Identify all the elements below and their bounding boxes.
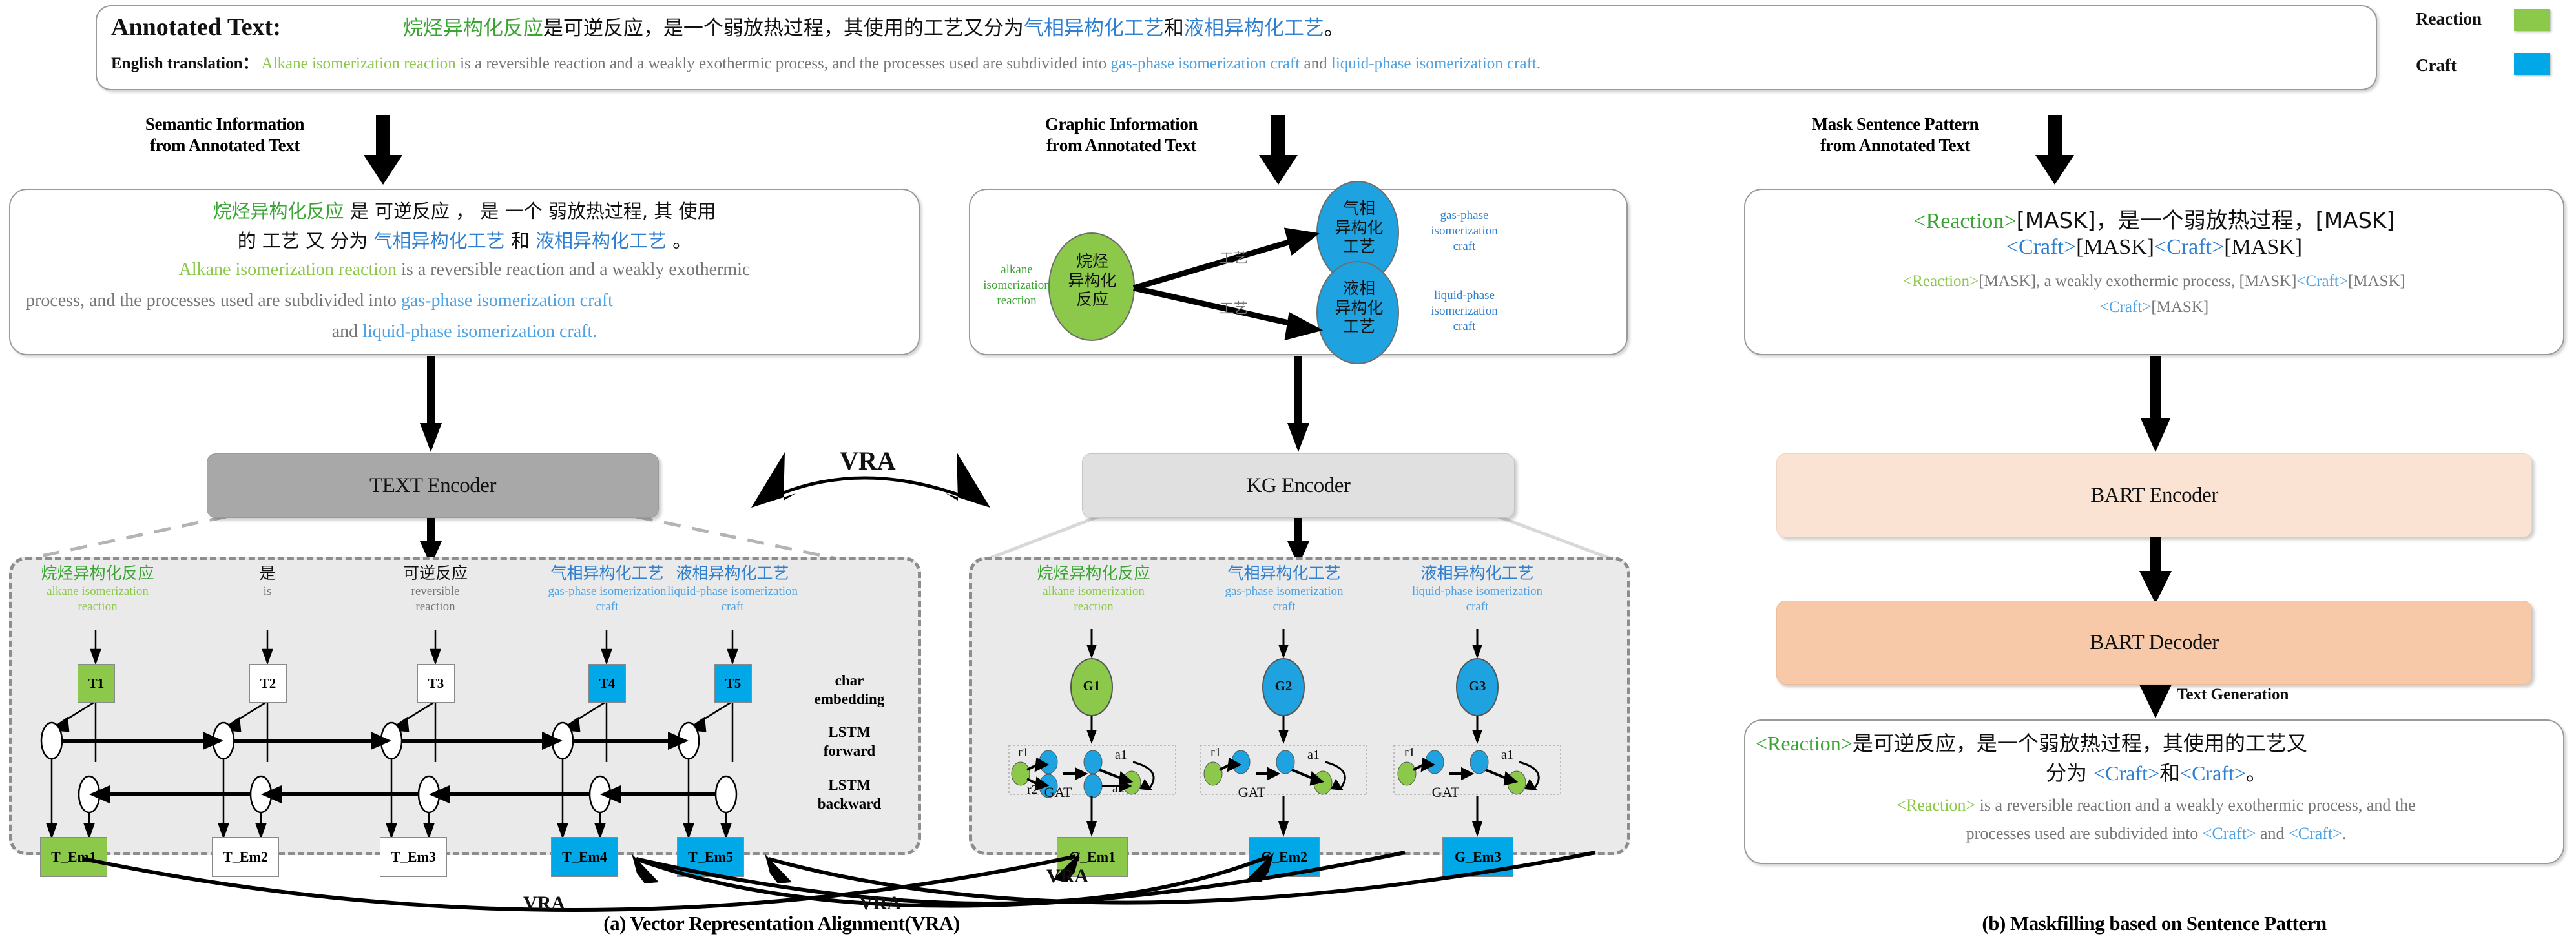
semantic-cn-and: 和: [505, 230, 535, 252]
output-cn-mid1: 是可逆反应，是一个弱放热过程，其使用的工艺又: [1853, 731, 2307, 756]
annotated-cn-reaction: 烷烃异构化反应: [403, 17, 543, 40]
text-encoder-detail-content: 烷烃异构化反应 alkane isomerization reaction 是 …: [9, 557, 921, 855]
graphic-info-header-line1: Graphic Information: [982, 114, 1261, 135]
vra-link-label-3: VRA: [1046, 865, 1088, 887]
mask-cn-reaction-tag: <Reaction>: [1913, 209, 2016, 233]
gat-r1-label-1: r1: [1018, 745, 1029, 760]
vra-arrowhead-1: [632, 854, 659, 883]
mask-cn-line1: <Reaction>[MASK]，是一个弱放热过程，[MASK]: [1749, 203, 2559, 234]
semantic-information-box: 烷烃异构化反应 是 可逆反应 ， 是 一个 弱放热过程, 其 使用 的 工艺 又…: [9, 189, 920, 355]
semantic-en-line1: Alkane isomerization reaction is a rever…: [17, 260, 912, 280]
mask-cn-mask2: [MASK]: [2224, 235, 2302, 259]
annotated-en-body: is a reversible reaction and a weakly ex…: [456, 55, 1111, 72]
char-embedding-label: char embedding: [792, 672, 907, 709]
text-token-cn-0: 烷烃异构化反应: [23, 561, 172, 584]
gat-a2-label-1: a2: [1112, 781, 1125, 796]
output-cn-line2: 分为 <Craft>和<Craft>。: [1756, 757, 2557, 787]
text-token-cn-4: 液相异构化工艺: [657, 561, 808, 584]
kg-node-liquid-craft-label: 液相异构化工艺: [1325, 279, 1393, 336]
text-token-en-2a: reversible: [373, 584, 498, 599]
kg-node-en-2b: craft: [1395, 599, 1559, 615]
text-generation-label: Text Generation: [2177, 686, 2289, 704]
annotated-text-banner: Annotated Text: 烷烃异构化反应是可逆反应，是一个弱放热过程，其使…: [96, 5, 2377, 90]
semantic-en-reaction: Alkane isomerization reaction: [179, 260, 397, 280]
kg-reaction-en-1: alkane: [977, 262, 1057, 278]
embedding-box-G_Em2[interactable]: G_Em2: [1249, 837, 1320, 877]
embedding-box-G_Em3[interactable]: G_Em3: [1442, 837, 1513, 877]
annotated-text-title: Annotated Text:: [111, 14, 281, 41]
output-en-craft-tag2: <Craft>: [2289, 824, 2342, 843]
text-token-col-0: 烷烃异构化反应 alkane isomerization reaction: [23, 561, 172, 615]
semantic-en-line3: and liquid-phase isomerization craft.: [17, 322, 912, 342]
output-en-mid1: is a reversible reaction and a weakly ex…: [1975, 796, 2416, 814]
kg-liquid-en-3: craft: [1404, 319, 1524, 335]
text-encoder-funnel: [26, 517, 840, 559]
legend-reaction-swatch: [2514, 9, 2550, 31]
kg-liquid-en-1: liquid-phase: [1404, 288, 1524, 304]
semantic-en-rest1: is a reversible reaction and a weakly ex…: [397, 260, 750, 280]
mask-cn-craft-tag1: <Craft>: [2006, 235, 2076, 259]
semantic-en-line2: process, and the processes used are subd…: [26, 291, 921, 311]
embedding-box-T_Em1[interactable]: T_Em1: [40, 837, 107, 877]
mask-cn-craft-tag2: <Craft>: [2154, 235, 2224, 259]
kg-edge-label-top: 工艺: [1220, 247, 1248, 267]
annotated-cn-craft2: 液相异构化工艺: [1184, 17, 1324, 40]
vra-top-label: VRA: [840, 446, 896, 476]
graphic-header-down-arrow: [1259, 115, 1298, 185]
text-token-col-4: 液相异构化工艺 liquid-phase isomerization craft: [657, 561, 808, 615]
legend-craft-swatch: [2514, 53, 2550, 75]
caption-a: (a) Vector Representation Alignment(VRA): [297, 912, 1266, 935]
graphic-information-box: 烷烃异构化反应 气相异构化工艺 液相异构化工艺 alkane isomeriza…: [969, 189, 1628, 355]
g2-node-label: G2: [1267, 678, 1300, 694]
text-token-en-4a: liquid-phase isomerization: [657, 584, 808, 599]
vra-double-arrow: [759, 478, 982, 504]
gat-a1-label-1: a1: [1115, 748, 1127, 763]
lstm-label-f: LSTM: [792, 723, 907, 742]
kg-gas-en-3: craft: [1404, 239, 1524, 254]
kg-node-reaction-label: 烷烃异构化反应: [1057, 252, 1128, 309]
embedding-box-T_Em2[interactable]: T_Em2: [212, 837, 279, 877]
kg-node-en-1b: craft: [1207, 599, 1362, 615]
gat-a1-label-2: a1: [1307, 748, 1320, 763]
text-token-cn-1: 是: [213, 561, 322, 584]
text-token-en-0b: reaction: [23, 599, 172, 615]
char-label: char: [792, 672, 907, 690]
legend-reaction-label: Reaction: [2416, 9, 2482, 29]
mask-pattern-header: Mask Sentence Pattern from Annotated Tex…: [1756, 114, 2035, 156]
graphic-info-header: Graphic Information from Annotated Text: [982, 114, 1261, 156]
semantic-info-header: Semantic Information from Annotated Text: [85, 114, 364, 156]
kg-node-en-1a: gas-phase isomerization: [1207, 584, 1362, 599]
generated-output-box: <Reaction>是可逆反应，是一个弱放热过程，其使用的工艺又 分为 <Cra…: [1744, 719, 2564, 864]
output-en-period: .: [2342, 824, 2347, 843]
mask-en-line1-mid: [MASK], a weakly exothermic process, [MA…: [1979, 273, 2296, 290]
token-box-T5[interactable]: T5: [714, 664, 752, 703]
annotated-text-line-cn: Annotated Text: 烷烃异构化反应是可逆反应，是一个弱放热过程，其使…: [111, 12, 2359, 45]
kg-reaction-en-3: reaction: [977, 293, 1057, 309]
semantic-en-craft2: liquid-phase isomerization craft.: [362, 322, 597, 342]
text-token-en-1a: is: [213, 584, 322, 599]
graphic-info-header-line2: from Annotated Text: [982, 135, 1261, 156]
annotated-en-period: .: [1537, 55, 1541, 72]
kg-node-col-2: 液相异构化工艺 liquid-phase isomerization craft: [1395, 561, 1559, 615]
output-en-craft-tag1: <Craft>: [2203, 824, 2256, 843]
mask-pattern-header-line1: Mask Sentence Pattern: [1756, 114, 2035, 135]
mask-en-craft-tag1: <Craft>: [2296, 273, 2348, 290]
output-en-line1: <Reaction> is a reversible reaction and …: [1756, 796, 2557, 815]
vra-arrowhead-2: [765, 854, 792, 883]
mask-cn-line1-rest: [MASK]，是一个弱放热过程，[MASK]: [2017, 208, 2395, 234]
output-en-and: and: [2256, 824, 2289, 843]
kg-node-gas-craft-label: 气相异构化工艺: [1325, 199, 1393, 256]
kg-node-col-1: 气相异构化工艺 gas-phase isomerization craft: [1207, 561, 1362, 615]
output-en-line2: processes used are subdivided into <Craf…: [1756, 824, 2557, 843]
output-cn-craft-tag2: <Craft>: [2180, 761, 2246, 785]
kg-node-en-0a: alkane isomerization: [1014, 584, 1173, 599]
output-cn-reaction-tag: <Reaction>: [1756, 732, 1853, 755]
backward-label: backward: [792, 795, 907, 814]
mask-pattern-header-line2: from Annotated Text: [1756, 135, 2035, 156]
gat-label-2: GAT: [1227, 784, 1276, 801]
token-box-T4[interactable]: T4: [588, 664, 626, 703]
vra-arrowhead-right: [946, 452, 990, 508]
caption-b: (b) Maskfilling based on Sentence Patter…: [1744, 912, 2564, 935]
text-token-col-2: 可逆反应 reversible reaction: [373, 561, 498, 615]
output-cn-line1: <Reaction>是可逆反应，是一个弱放热过程，其使用的工艺又: [1756, 727, 2557, 757]
embedding-box-T_Em4[interactable]: T_Em4: [551, 837, 618, 877]
english-translation-label: English translation：: [111, 55, 259, 72]
text-token-cn-2: 可逆反应: [373, 561, 498, 584]
mask-to-bart-encoder-arrow: [2141, 356, 2170, 452]
text-token-en-4b: craft: [657, 599, 808, 615]
kg-to-kg-encoder-arrow: [1287, 356, 1309, 452]
lstm-label-b: LSTM: [792, 776, 907, 795]
annotated-cn-body: 是可逆反应，是一个弱放热过程，其使用的工艺又分为: [543, 17, 1024, 40]
mask-en-line1: <Reaction>[MASK], a weakly exothermic pr…: [1749, 273, 2559, 291]
g3-node-label: G3: [1461, 678, 1493, 694]
kg-gas-en-2: isomerization: [1404, 223, 1524, 239]
vra-arrowhead-left: [751, 452, 796, 508]
bart-encoder-block[interactable]: BART Encoder: [1776, 453, 2532, 537]
kg-edge-label-bottom: 工艺: [1220, 297, 1248, 318]
annotated-en-reaction: Alkane isomerization reaction: [262, 55, 456, 72]
lstm-wires: [41, 630, 737, 837]
output-cn-craft-tag1: <Craft>: [2093, 761, 2159, 785]
mask-cn-mask1: [MASK]: [2076, 235, 2154, 259]
kg-node-cn-1: 气相异构化工艺: [1207, 561, 1362, 584]
bart-decoder-block[interactable]: BART Decoder: [1776, 601, 2532, 685]
semantic-cn-period: 。: [667, 230, 691, 252]
legend: Reaction Craft: [2416, 5, 2571, 83]
kg-liquid-craft-en-label: liquid-phase isomerization craft: [1404, 288, 1524, 334]
kg-encoder-funnel: [987, 517, 1612, 559]
kg-reaction-en-label: alkane isomerization reaction: [977, 262, 1057, 308]
vra-link-label-2: VRA: [859, 893, 901, 914]
semantic-cn-line2: 的 工艺 又 分为 气相异构化工艺 和 液相异构化工艺 。: [17, 226, 912, 253]
text-encoder-block[interactable]: TEXT Encoder: [207, 453, 659, 518]
kg-node-en-2a: liquid-phase isomerization: [1395, 584, 1559, 599]
text-token-en-0a: alkane isomerization: [23, 584, 172, 599]
gat-label-1: GAT: [1034, 784, 1083, 801]
token-box-T3[interactable]: T3: [417, 664, 455, 703]
lstm-forward-label: LSTM forward: [792, 723, 907, 761]
mask-en-reaction-tag: <Reaction>: [1903, 273, 1979, 290]
annotated-cn-and: 和: [1164, 17, 1184, 40]
gat-a1-label-3: a1: [1501, 748, 1513, 763]
kg-liquid-en-2: isomerization: [1404, 304, 1524, 319]
semantic-en-rest2: process, and the processes used are subd…: [26, 291, 401, 311]
annotated-cn-craft1: 气相异构化工艺: [1024, 17, 1164, 40]
semantic-en-craft1: gas-phase isomerization craft: [401, 291, 613, 311]
semantic-info-header-line1: Semantic Information: [85, 114, 364, 135]
kg-node-col-0: 烷烃异构化反应 alkane isomerization reaction: [1014, 561, 1173, 615]
embedding-box-T_Em5[interactable]: T_Em5: [677, 837, 744, 877]
gat-r1-label-2: r1: [1210, 745, 1221, 760]
token-box-T2[interactable]: T2: [249, 664, 287, 703]
token-box-T1[interactable]: T1: [78, 664, 115, 703]
kg-node-cn-2: 液相异构化工艺: [1395, 561, 1559, 584]
annotated-en-and: and: [1300, 55, 1331, 72]
lstm-backward-label: LSTM backward: [792, 776, 907, 814]
kg-encoder-detail-content: 烷烃异构化反应 alkane isomerization reaction 气相…: [969, 557, 1630, 855]
output-cn-and: 和: [2159, 761, 2180, 785]
gat-label-3: GAT: [1421, 784, 1470, 801]
output-en-mid2: processes used are subdivided into: [1966, 824, 2203, 843]
semantic-cn-reaction: 烷烃异构化反应: [213, 200, 344, 222]
kg-gas-craft-en-label: gas-phase isomerization craft: [1404, 208, 1524, 254]
semantic-cn-craft2: 液相异构化工艺: [535, 230, 667, 252]
semantic-en-and: and: [332, 322, 362, 342]
annotated-cn-period: 。: [1324, 17, 1344, 40]
semantic-info-header-line2: from Annotated Text: [85, 135, 364, 156]
semantic-cn-craft1: 气相异构化工艺: [374, 230, 505, 252]
output-cn-mid2: 分为: [2046, 761, 2093, 785]
text-token-en-2b: reaction: [373, 599, 498, 615]
kg-node-en-0b: reaction: [1014, 599, 1173, 615]
output-cn-period: 。: [2246, 761, 2267, 785]
g1-node-label: G1: [1075, 678, 1108, 694]
annotated-en-craft2: liquid-phase isomerization craft: [1331, 55, 1537, 72]
mask-header-down-arrow: [2035, 115, 2074, 185]
gat-r1-label-3: r1: [1404, 745, 1415, 760]
bart-encoder-to-decoder-arrow: [2139, 536, 2172, 604]
legend-craft-label: Craft: [2416, 56, 2457, 76]
semantic-to-text-encoder-arrow: [420, 356, 442, 452]
kg-node-cn-0: 烷烃异构化反应: [1014, 561, 1173, 584]
semantic-cn-rest2: 的 工艺 又 分为: [238, 230, 374, 252]
mask-en-line2: <Craft>[MASK]: [1749, 298, 2559, 316]
mask-cn-line2: <Craft>[MASK]<Craft>[MASK]: [1749, 235, 2559, 260]
kg-encoder-block[interactable]: KG Encoder: [1082, 453, 1515, 518]
semantic-header-down-arrow: [364, 115, 402, 185]
embedding-label: embedding: [792, 690, 907, 709]
kg-reaction-en-2: isomerization: [977, 278, 1057, 293]
mask-sentence-pattern-box: <Reaction>[MASK]，是一个弱放热过程，[MASK] <Craft>…: [1744, 189, 2564, 355]
mask-en-craft-tag2: <Craft>: [2100, 298, 2152, 316]
semantic-cn-line1: 烷烃异构化反应 是 可逆反应 ， 是 一个 弱放热过程, 其 使用: [17, 196, 912, 223]
annotated-text-line-en: English translation： Alkane isomerizatio…: [111, 50, 2359, 83]
output-en-reaction-tag: <Reaction>: [1896, 796, 1975, 814]
annotated-en-craft1: gas-phase isomerization craft: [1110, 55, 1300, 72]
forward-label: forward: [792, 742, 907, 761]
semantic-cn-rest1: 是 可逆反应 ， 是 一个 弱放热过程, 其 使用: [344, 200, 716, 222]
text-token-col-1: 是 is: [213, 561, 322, 599]
kg-gas-en-1: gas-phase: [1404, 208, 1524, 223]
mask-en-line1-end: [MASK]: [2348, 273, 2405, 290]
mask-en-line2-end: [MASK]: [2151, 298, 2208, 316]
vra-link-label-1: VRA: [523, 893, 565, 914]
